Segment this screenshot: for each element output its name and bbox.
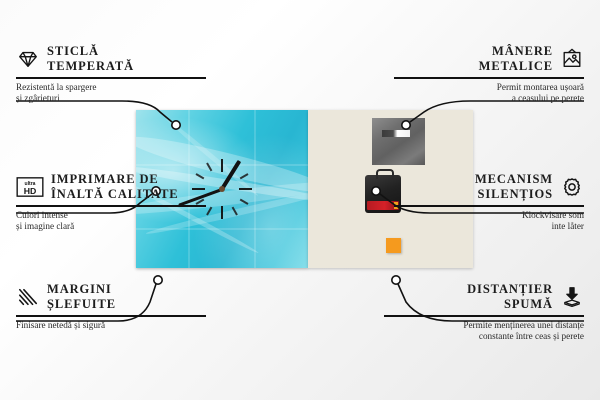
gear-icon bbox=[560, 176, 584, 198]
callout-subtitle: Rezistentă la spargere și zgârieturi bbox=[16, 82, 206, 104]
callout-head: MECANISM SILENȚIOS bbox=[394, 172, 584, 201]
callout-title: STICLĂ TEMPERATĂ bbox=[47, 44, 134, 73]
callout-silent-mechanism: MECANISM SILENȚIOS Klockvisare som inte … bbox=[394, 172, 584, 232]
diamond-icon bbox=[16, 48, 40, 70]
callout-rule bbox=[384, 315, 584, 317]
movement-hook bbox=[376, 169, 394, 179]
callout-title: IMPRIMARE DE ÎNALTĂ CALITATE bbox=[51, 172, 179, 201]
callout-rule bbox=[16, 205, 206, 207]
callout-subtitle: Permit montarea ușoară a ceasului pe per… bbox=[394, 82, 584, 104]
callout-subtitle: Finisare netedă și sigură bbox=[16, 320, 206, 331]
callout-title: MECANISM SILENȚIOS bbox=[475, 172, 553, 201]
callout-rule bbox=[16, 315, 206, 317]
callout-head: DISTANȚIER SPUMĂ bbox=[384, 282, 584, 311]
infographic-canvas: STICLĂ TEMPERATĂ Rezistentă la spargere … bbox=[0, 0, 600, 400]
callout-title: MARGINI ȘLEFUITE bbox=[47, 282, 116, 311]
foam-spacer bbox=[386, 238, 401, 253]
callout-subtitle: Klockvisare som inte låter bbox=[394, 210, 584, 232]
callout-subtitle: Culori intense și imagine clară bbox=[16, 210, 206, 232]
callout-title: DISTANȚIER SPUMĂ bbox=[467, 282, 553, 311]
callout-head: ultra HD IMPRIMARE DE ÎNALTĂ CALITATE bbox=[16, 172, 206, 201]
press-down-pad-icon bbox=[560, 286, 584, 308]
callout-polished-edges: MARGINI ȘLEFUITE Finisare netedă și sigu… bbox=[16, 282, 206, 331]
callout-rule bbox=[394, 77, 584, 79]
metal-hanger-plate bbox=[372, 118, 425, 165]
callout-print-quality: ultra HD IMPRIMARE DE ÎNALTĂ CALITATE Cu… bbox=[16, 172, 206, 232]
ultra-hd-icon: ultra HD bbox=[16, 176, 44, 198]
diagonal-lines-icon bbox=[16, 286, 40, 308]
callout-title: MÂNERE METALICE bbox=[479, 44, 553, 73]
callout-head: MARGINI ȘLEFUITE bbox=[16, 282, 206, 311]
picture-frame-hanger-icon bbox=[560, 48, 584, 70]
callout-rule bbox=[16, 77, 206, 79]
callout-metal-handles: MÂNERE METALICE Permit montarea ușoară a… bbox=[394, 44, 584, 104]
callout-head: STICLĂ TEMPERATĂ bbox=[16, 44, 206, 73]
hand-center-cap bbox=[219, 186, 225, 192]
callout-rule bbox=[394, 205, 584, 207]
hanger-slot bbox=[382, 130, 410, 137]
callout-subtitle: Permite menținerea unei distanțe constan… bbox=[384, 320, 584, 342]
callout-head: MÂNERE METALICE bbox=[394, 44, 584, 73]
svg-text:HD: HD bbox=[24, 185, 37, 195]
callout-foam-spacer: DISTANȚIER SPUMĂ Permite menținerea unei… bbox=[384, 282, 584, 342]
callout-tempered-glass: STICLĂ TEMPERATĂ Rezistentă la spargere … bbox=[16, 44, 206, 104]
